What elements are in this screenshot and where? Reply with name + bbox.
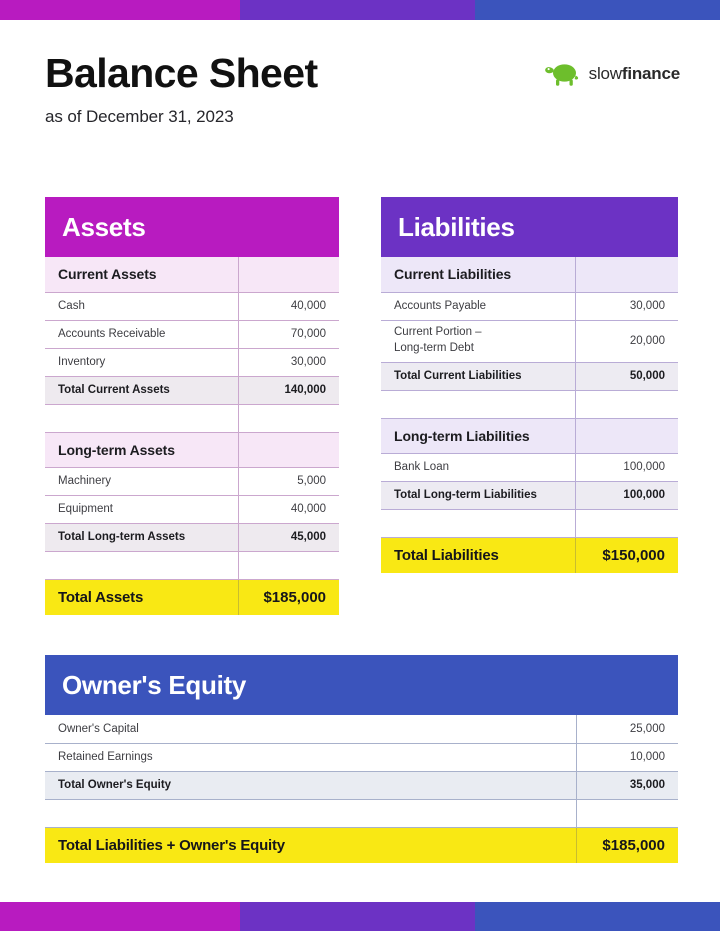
bottom-color-bar: [0, 902, 720, 931]
document-date-subtitle: as of December 31, 2023: [45, 107, 680, 127]
section-title: Long-term Assets: [45, 432, 238, 467]
spacer-row: [381, 390, 678, 418]
balance-sheet-page: Balance Sheet as of December 31, 2023 sl…: [0, 0, 720, 931]
top-color-bar: [0, 0, 720, 20]
spacer-row: [381, 509, 678, 537]
total-label: Total Assets: [45, 579, 238, 615]
section-title: Current Assets: [45, 257, 238, 292]
row-label-line1: Current Portion –: [394, 326, 482, 338]
spacer-cell: [45, 799, 576, 827]
spacer-row: [45, 551, 339, 579]
spacer-cell: [575, 509, 678, 537]
brand-name-light: slow: [589, 64, 622, 83]
assets-table: Assets Current Assets Cash 40,000 Accoun…: [45, 197, 339, 615]
spacer-cell: [381, 390, 575, 418]
total-value: $185,000: [238, 579, 339, 615]
brand-name-bold: finance: [622, 64, 680, 83]
assets-heading: Assets: [45, 197, 339, 257]
row-label: Inventory: [45, 348, 238, 376]
brand-name: slowfinance: [589, 64, 680, 84]
row-label: Cash: [45, 292, 238, 320]
turtle-icon: [544, 60, 580, 88]
total-value: $150,000: [575, 537, 678, 573]
bar-segment-magenta: [0, 902, 240, 931]
spacer-cell: [45, 551, 238, 579]
liabilities-subtotal-current: Total Current Liabilities 50,000: [381, 362, 678, 390]
table-row: Current Portion –Long-term Debt 20,000: [381, 320, 678, 362]
section-title: Current Liabilities: [381, 257, 575, 292]
grand-total-row: Total Liabilities + Owner's Equity $185,…: [45, 827, 678, 863]
bar-segment-magenta: [0, 0, 240, 20]
assets-subtotal-current: Total Current Assets 140,000: [45, 376, 339, 404]
spacer-cell: [576, 799, 678, 827]
row-value: 30,000: [575, 292, 678, 320]
row-value: 5,000: [238, 467, 339, 495]
equity-heading: Owner's Equity: [45, 655, 678, 715]
liabilities-section-header-current: Current Liabilities: [381, 257, 678, 292]
row-label: Current Portion –Long-term Debt: [381, 320, 575, 362]
table-row: Accounts Receivable 70,000: [45, 320, 339, 348]
row-label: Bank Loan: [381, 453, 575, 481]
subtotal-label: Total Current Liabilities: [381, 362, 575, 390]
row-value: 100,000: [575, 453, 678, 481]
section-title-blank: [238, 432, 339, 467]
spacer-cell: [381, 509, 575, 537]
liabilities-table: Liabilities Current Liabilities Accounts…: [381, 197, 678, 573]
equity-subtotal-row: Total Owner's Equity 35,000: [45, 771, 678, 799]
assets-subtotal-longterm: Total Long-term Assets 45,000: [45, 523, 339, 551]
spacer-cell: [238, 551, 339, 579]
table-row: Machinery 5,000: [45, 467, 339, 495]
liabilities-panel-header: Liabilities: [381, 197, 678, 257]
brand-lockup: slowfinance: [544, 60, 680, 88]
liabilities-heading: Liabilities: [381, 197, 678, 257]
row-value: 25,000: [576, 715, 678, 743]
subtotal-label: Total Long-term Liabilities: [381, 481, 575, 509]
row-label: Equipment: [45, 495, 238, 523]
assets-total-row: Total Assets $185,000: [45, 579, 339, 615]
bar-segment-purple: [240, 0, 475, 20]
row-value: 40,000: [238, 495, 339, 523]
subtotal-value: 140,000: [238, 376, 339, 404]
equity-panel-header: Owner's Equity: [45, 655, 678, 715]
owners-equity-table: Owner's Equity Owner's Capital 25,000 Re…: [45, 655, 678, 863]
total-value: $185,000: [576, 827, 678, 863]
row-label: Accounts Payable: [381, 292, 575, 320]
section-title-blank: [238, 257, 339, 292]
liabilities-subtotal-longterm: Total Long-term Liabilities 100,000: [381, 481, 678, 509]
spacer-cell: [45, 404, 238, 432]
row-value: 20,000: [575, 320, 678, 362]
subtotal-value: 45,000: [238, 523, 339, 551]
total-label: Total Liabilities: [381, 537, 575, 573]
liabilities-total-row: Total Liabilities $150,000: [381, 537, 678, 573]
subtotal-value: 50,000: [575, 362, 678, 390]
assets-panel-header: Assets: [45, 197, 339, 257]
assets-section-header-current: Current Assets: [45, 257, 339, 292]
assets-section-header-longterm: Long-term Assets: [45, 432, 339, 467]
liabilities-section-header-longterm: Long-term Liabilities: [381, 418, 678, 453]
section-title-blank: [575, 257, 678, 292]
spacer-cell: [575, 390, 678, 418]
table-row: Bank Loan 100,000: [381, 453, 678, 481]
subtotal-value: 35,000: [576, 771, 678, 799]
row-label: Retained Earnings: [45, 743, 576, 771]
table-row: Inventory 30,000: [45, 348, 339, 376]
section-title-blank: [575, 418, 678, 453]
subtotal-label: Total Owner's Equity: [45, 771, 576, 799]
row-value: 10,000: [576, 743, 678, 771]
subtotal-label: Total Current Assets: [45, 376, 238, 404]
table-row: Retained Earnings 10,000: [45, 743, 678, 771]
row-label: Owner's Capital: [45, 715, 576, 743]
row-label: Machinery: [45, 467, 238, 495]
table-row: Cash 40,000: [45, 292, 339, 320]
spacer-row: [45, 799, 678, 827]
row-label-line2: Long-term Debt: [394, 342, 474, 354]
spacer-row: [45, 404, 339, 432]
table-row: Owner's Capital 25,000: [45, 715, 678, 743]
section-title: Long-term Liabilities: [381, 418, 575, 453]
row-label: Accounts Receivable: [45, 320, 238, 348]
spacer-cell: [238, 404, 339, 432]
bar-segment-blue: [475, 0, 720, 20]
document-header: Balance Sheet as of December 31, 2023 sl…: [45, 52, 680, 147]
row-value: 70,000: [238, 320, 339, 348]
table-row: Accounts Payable 30,000: [381, 292, 678, 320]
row-value: 40,000: [238, 292, 339, 320]
subtotal-label: Total Long-term Assets: [45, 523, 238, 551]
bar-segment-purple: [240, 902, 475, 931]
table-row: Equipment 40,000: [45, 495, 339, 523]
bar-segment-blue: [475, 902, 720, 931]
row-value: 30,000: [238, 348, 339, 376]
total-label: Total Liabilities + Owner's Equity: [45, 827, 576, 863]
subtotal-value: 100,000: [575, 481, 678, 509]
